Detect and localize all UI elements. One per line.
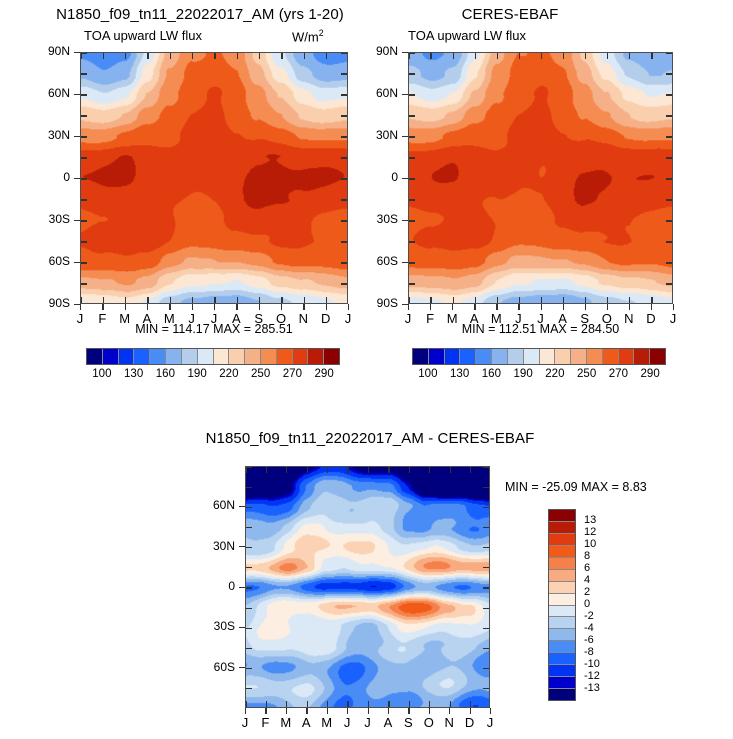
x-axis-tick <box>408 304 409 310</box>
x-axis-tick <box>368 708 369 714</box>
colorbar-tick-label: 100 <box>87 368 117 380</box>
panel-obs-plot[interactable] <box>408 52 673 304</box>
frame-tick <box>341 136 347 137</box>
x-axis-tick <box>192 304 193 310</box>
frame-tick <box>246 608 252 609</box>
colorbar-cell-6 <box>508 349 524 364</box>
colorbar-difference-tick-label: 12 <box>584 526 596 538</box>
frame-tick <box>281 297 282 303</box>
frame-tick <box>666 178 672 179</box>
y-axis-tick <box>402 178 408 179</box>
frame-tick <box>347 701 348 707</box>
frame-tick <box>259 297 260 303</box>
x-axis-tick <box>651 304 652 310</box>
y-axis-lat-label: 0 <box>199 579 235 593</box>
y-axis-tick <box>74 262 80 263</box>
frame-tick <box>237 297 238 303</box>
colorbar-cell-11 <box>549 641 575 653</box>
y-axis-tick <box>402 262 408 263</box>
x-axis-month-label: A <box>299 715 313 730</box>
frame-tick <box>286 467 287 473</box>
frame-tick <box>307 467 308 473</box>
colorbar-cell-3 <box>549 546 575 558</box>
colorbar-tick-label: 100 <box>413 368 443 380</box>
colorbar-difference-tick-label: 10 <box>584 538 596 550</box>
colorbar-cell-9 <box>229 349 245 364</box>
frame-tick <box>408 297 409 303</box>
x-axis-tick <box>629 304 630 310</box>
frame-tick <box>246 688 252 689</box>
frame-tick <box>341 220 347 221</box>
colorbar-difference-tick-label: -13 <box>584 682 600 694</box>
frame-tick <box>341 178 347 179</box>
x-axis-tick <box>388 708 389 714</box>
frame-tick <box>629 53 630 59</box>
colorbar-difference-tick-label: 4 <box>584 574 590 586</box>
y-axis-tick <box>239 587 245 588</box>
x-axis-tick <box>673 304 674 310</box>
colorbar-tick-label: 250 <box>246 368 276 380</box>
y-axis-lat-label: 30N <box>199 539 235 553</box>
frame-tick <box>666 136 672 137</box>
frame-tick <box>81 94 87 95</box>
colorbar-cell-8 <box>214 349 230 364</box>
y-axis-tick <box>402 136 408 137</box>
colorbar-cell-8 <box>540 349 556 364</box>
frame-tick <box>341 73 347 74</box>
frame-tick <box>585 297 586 303</box>
panel-obs-x-axis: JFMAMJJASONDJ <box>408 304 673 324</box>
frame-tick <box>409 467 410 473</box>
colorbar-cell-4 <box>150 349 166 364</box>
x-axis-month-label: J <box>340 715 354 730</box>
colorbar-tick-label: 220 <box>214 368 244 380</box>
colorbar-cell-4 <box>476 349 492 364</box>
x-axis-tick <box>348 304 349 310</box>
frame-tick <box>666 262 672 263</box>
frame-tick <box>341 94 347 95</box>
frame-tick <box>429 467 430 473</box>
frame-tick <box>453 297 454 303</box>
y-axis-tick <box>239 546 245 547</box>
y-axis-lat-label: 0 <box>34 170 70 184</box>
colorbar-cell-7 <box>198 349 214 364</box>
colorbar-difference[interactable] <box>548 509 576 701</box>
frame-tick <box>245 701 246 707</box>
frame-tick <box>246 507 252 508</box>
frame-tick <box>286 701 287 707</box>
frame-tick <box>368 467 369 473</box>
colorbar-cell-2 <box>119 349 135 364</box>
frame-tick <box>341 115 347 116</box>
frame-tick <box>409 115 415 116</box>
colorbar-cell-3 <box>134 349 150 364</box>
frame-tick <box>409 52 415 53</box>
x-axis-month-label: N <box>442 715 456 730</box>
frame-tick <box>81 199 87 200</box>
frame-tick <box>519 53 520 59</box>
frame-tick <box>666 241 672 242</box>
frame-tick <box>563 297 564 303</box>
frame-tick <box>246 527 252 528</box>
frame-tick <box>192 297 193 303</box>
x-axis-tick <box>326 304 327 310</box>
colorbar-cell-6 <box>182 349 198 364</box>
y-axis-lat-label: 60N <box>199 498 235 512</box>
panel-model-plot[interactable] <box>80 52 348 304</box>
colorbar-tick-label: 190 <box>182 368 212 380</box>
panel-difference-minmax: MIN = -25.09 MAX = 8.83 <box>505 480 647 494</box>
colorbar-difference-ticklabels: 13121086420-2-4-6-8-10-12-13 <box>580 509 620 701</box>
colorbar-tick-label: 160 <box>150 368 180 380</box>
frame-tick <box>497 53 498 59</box>
colorbar-cell-5 <box>549 570 575 582</box>
frame-tick <box>629 297 630 303</box>
x-axis-tick <box>429 708 430 714</box>
frame-tick <box>245 467 246 473</box>
x-axis-tick <box>518 304 519 310</box>
frame-tick <box>192 53 193 59</box>
frame-tick <box>246 668 252 669</box>
frame-tick <box>483 547 489 548</box>
x-axis-tick <box>286 708 287 714</box>
colorbar-cell-12 <box>277 349 293 364</box>
frame-tick <box>81 52 87 53</box>
panel-difference-plot[interactable] <box>245 466 490 708</box>
frame-tick <box>341 157 347 158</box>
frame-tick <box>409 136 415 137</box>
x-axis-tick <box>281 304 282 310</box>
colorbar-cell-13 <box>549 665 575 677</box>
frame-tick <box>170 53 171 59</box>
colorbar-tick-label: 270 <box>603 368 633 380</box>
x-axis-month-label: J <box>361 715 375 730</box>
panel-obs-y-axis: 90N60N30N030S60S90S <box>368 52 408 304</box>
y-axis-lat-label: 90S <box>34 296 70 310</box>
frame-tick <box>409 241 415 242</box>
colorbar-cell-4 <box>549 558 575 570</box>
panel-model-y-axis: 90N60N30N030S60S90S <box>40 52 80 304</box>
frame-tick <box>125 53 126 59</box>
colorbar-cell-3 <box>460 349 476 364</box>
x-axis-tick <box>327 708 328 714</box>
frame-tick <box>281 53 282 59</box>
colorbar-tick-label: 130 <box>445 368 475 380</box>
y-axis-tick <box>74 178 80 179</box>
x-axis-tick <box>490 708 491 714</box>
x-axis-tick <box>541 304 542 310</box>
colorbar-cell-5 <box>492 349 508 364</box>
x-axis-tick <box>306 708 307 714</box>
frame-tick <box>666 94 672 95</box>
frame-tick <box>483 527 489 528</box>
x-axis-tick <box>80 304 81 310</box>
panel-model-variable-label: TOA upward LW flux <box>84 28 202 43</box>
frame-tick <box>475 297 476 303</box>
frame-tick <box>326 53 327 59</box>
panel-model-x-axis: JFMAMJJASONDJ <box>80 304 348 324</box>
frame-tick <box>409 262 415 263</box>
frame-tick <box>666 283 672 284</box>
colorbar-tick-label: 190 <box>508 368 538 380</box>
x-axis-tick <box>169 304 170 310</box>
frame-tick <box>327 467 328 473</box>
frame-tick <box>429 701 430 707</box>
colorbar-difference-tick-label: 0 <box>584 598 590 610</box>
colorbar-difference-tick-label: -2 <box>584 610 594 622</box>
x-axis-tick <box>449 708 450 714</box>
frame-tick <box>81 157 87 158</box>
x-axis-month-label: A <box>381 715 395 730</box>
y-axis-lat-label: 30S <box>362 212 398 226</box>
frame-tick <box>666 220 672 221</box>
x-axis-tick <box>496 304 497 310</box>
colorbar-cell-9 <box>555 349 571 364</box>
frame-tick <box>246 466 252 467</box>
y-axis-lat-label: 30N <box>34 128 70 142</box>
frame-tick <box>666 73 672 74</box>
x-axis-tick <box>408 708 409 714</box>
colorbar-cell-1 <box>429 349 445 364</box>
colorbar-difference-tick-label: 2 <box>584 586 590 598</box>
panel-difference-x-axis: JFMAMJJASONDJ <box>245 708 490 728</box>
frame-tick <box>563 53 564 59</box>
colorbar-cell-2 <box>445 349 461 364</box>
frame-tick <box>246 587 252 588</box>
frame-tick <box>81 283 87 284</box>
frame-tick <box>368 701 369 707</box>
panel-obs-heatmap <box>409 53 672 303</box>
x-axis-tick <box>236 304 237 310</box>
colorbar-cell-0 <box>549 510 575 522</box>
colorbar-tick-label: 220 <box>540 368 570 380</box>
colorbar-difference-tick-label: 6 <box>584 562 590 574</box>
colorbar-cell-13 <box>293 349 309 364</box>
frame-tick <box>341 199 347 200</box>
frame-tick <box>453 53 454 59</box>
colorbar-cell-10 <box>571 349 587 364</box>
frame-tick <box>81 241 87 242</box>
colorbar-cell-11 <box>587 349 603 364</box>
colorbar-cell-14 <box>308 349 324 364</box>
frame-tick <box>81 262 87 263</box>
frame-tick <box>170 297 171 303</box>
y-axis-tick <box>74 52 80 53</box>
frame-tick <box>327 701 328 707</box>
colorbar-cell-10 <box>549 629 575 641</box>
frame-tick <box>307 701 308 707</box>
frame-tick <box>388 467 389 473</box>
y-axis-tick <box>402 52 408 53</box>
frame-tick <box>237 53 238 59</box>
colorbar-difference-tick-label: -12 <box>584 670 600 682</box>
colorbar-cell-9 <box>549 617 575 629</box>
frame-tick <box>450 701 451 707</box>
colorbar-flux-obs[interactable] <box>412 348 666 365</box>
y-axis-lat-label: 90N <box>34 44 70 58</box>
frame-tick <box>483 628 489 629</box>
frame-tick <box>409 157 415 158</box>
frame-tick <box>483 648 489 649</box>
frame-tick <box>246 648 252 649</box>
frame-tick <box>81 136 87 137</box>
panel-obs-variable-label: TOA upward LW flux <box>408 28 526 43</box>
frame-tick <box>483 507 489 508</box>
frame-tick <box>409 283 415 284</box>
y-axis-lat-label: 30S <box>34 212 70 226</box>
frame-tick <box>125 297 126 303</box>
y-axis-lat-label: 60S <box>199 660 235 674</box>
colorbar-cell-6 <box>549 582 575 594</box>
frame-tick <box>246 628 252 629</box>
colorbar-flux-obs-ticklabels: 100130160190220250270290 <box>412 368 666 384</box>
colorbar-difference-tick-label: -8 <box>584 646 594 658</box>
frame-tick <box>666 115 672 116</box>
colorbar-tick-label: 250 <box>572 368 602 380</box>
frame-tick <box>304 53 305 59</box>
frame-tick <box>483 608 489 609</box>
frame-tick <box>585 53 586 59</box>
frame-tick <box>409 178 415 179</box>
colorbar-tick-label: 130 <box>119 368 149 380</box>
frame-tick <box>147 297 148 303</box>
colorbar-cell-2 <box>549 534 575 546</box>
frame-tick <box>246 567 252 568</box>
colorbar-cell-0 <box>87 349 103 364</box>
frame-tick <box>409 94 415 95</box>
frame-tick <box>341 52 347 53</box>
x-axis-tick <box>259 304 260 310</box>
y-axis-lat-label: 60N <box>362 86 398 100</box>
frame-tick <box>666 52 672 53</box>
colorbar-flux-model-ticklabels: 100130160190220250270290 <box>86 368 340 384</box>
colorbar-difference-tick-label: -4 <box>584 622 594 634</box>
frame-tick <box>341 262 347 263</box>
frame-tick <box>519 297 520 303</box>
frame-tick <box>541 297 542 303</box>
y-axis-lat-label: 60S <box>362 254 398 268</box>
frame-tick <box>103 297 104 303</box>
x-axis-tick <box>470 708 471 714</box>
panel-model-units-label: W/m2 <box>292 28 324 44</box>
frame-tick <box>81 115 87 116</box>
frame-tick <box>430 297 431 303</box>
frame-tick <box>607 53 608 59</box>
frame-tick <box>80 53 81 59</box>
frame-tick <box>388 701 389 707</box>
y-axis-tick <box>74 94 80 95</box>
frame-tick <box>341 283 347 284</box>
colorbar-cell-1 <box>103 349 119 364</box>
x-axis-tick <box>303 304 304 310</box>
panel-difference-y-axis: 60N30N030S60S <box>205 466 245 708</box>
colorbar-difference-tick-label: -6 <box>584 634 594 646</box>
colorbar-cell-14 <box>634 349 650 364</box>
frame-tick <box>80 297 81 303</box>
frame-tick <box>483 487 489 488</box>
colorbar-difference-tick-label: 8 <box>584 550 590 562</box>
frame-tick <box>81 178 87 179</box>
frame-tick <box>326 297 327 303</box>
colorbar-cell-11 <box>261 349 277 364</box>
colorbar-tick-label: 270 <box>277 368 307 380</box>
frame-tick <box>103 53 104 59</box>
y-axis-lat-label: 60N <box>34 86 70 100</box>
y-axis-lat-label: 90S <box>362 296 398 310</box>
frame-tick <box>483 688 489 689</box>
panel-obs-title: CERES-EBAF <box>340 6 680 23</box>
frame-tick <box>470 701 471 707</box>
frame-tick <box>651 53 652 59</box>
y-axis-tick <box>402 220 408 221</box>
colorbar-cell-7 <box>524 349 540 364</box>
panel-model-minmax: MIN = 114.17 MAX = 285.51 <box>80 322 348 336</box>
colorbar-cell-1 <box>549 522 575 534</box>
x-axis-tick <box>265 708 266 714</box>
frame-tick <box>266 467 267 473</box>
x-axis-tick <box>125 304 126 310</box>
y-axis-tick <box>402 94 408 95</box>
frame-tick <box>81 220 87 221</box>
x-axis-tick <box>452 304 453 310</box>
y-axis-lat-label: 30N <box>362 128 398 142</box>
y-axis-lat-label: 30S <box>199 619 235 633</box>
colorbar-cell-15 <box>549 689 575 700</box>
frame-tick <box>483 567 489 568</box>
y-axis-tick <box>239 667 245 668</box>
x-axis-month-label: O <box>422 715 436 730</box>
frame-tick <box>246 487 252 488</box>
x-axis-tick <box>474 304 475 310</box>
colorbar-cell-15 <box>324 349 339 364</box>
x-axis-month-label: M <box>279 715 293 730</box>
x-axis-tick <box>607 304 608 310</box>
x-axis-tick <box>102 304 103 310</box>
colorbar-tick-label: 290 <box>309 368 339 380</box>
colorbar-cell-13 <box>619 349 635 364</box>
colorbar-cell-8 <box>549 606 575 618</box>
x-axis-tick <box>347 708 348 714</box>
frame-tick <box>483 466 489 467</box>
frame-tick <box>304 297 305 303</box>
frame-tick <box>246 547 252 548</box>
x-axis-month-label: J <box>483 715 497 730</box>
frame-tick <box>450 467 451 473</box>
frame-tick <box>607 297 608 303</box>
colorbar-cell-5 <box>166 349 182 364</box>
frame-tick <box>541 53 542 59</box>
panel-difference-title: N1850_f09_tn11_22022017_AM - CERES-EBAF <box>110 430 630 447</box>
y-axis-tick <box>74 220 80 221</box>
x-axis-month-label: M <box>320 715 334 730</box>
x-axis-tick <box>214 304 215 310</box>
x-axis-month-label: J <box>238 715 252 730</box>
y-axis-tick <box>239 627 245 628</box>
frame-tick <box>483 668 489 669</box>
colorbar-flux-model[interactable] <box>86 348 340 365</box>
frame-tick <box>409 701 410 707</box>
frame-tick <box>147 53 148 59</box>
frame-tick <box>259 53 260 59</box>
colorbar-cell-12 <box>603 349 619 364</box>
y-axis-tick <box>74 136 80 137</box>
frame-tick <box>408 53 409 59</box>
panel-obs-minmax: MIN = 112.51 MAX = 284.50 <box>408 322 673 336</box>
colorbar-cell-14 <box>549 677 575 689</box>
panel-model-heatmap <box>81 53 347 303</box>
y-axis-lat-label: 90N <box>362 44 398 58</box>
panel-difference-heatmap <box>246 467 489 707</box>
